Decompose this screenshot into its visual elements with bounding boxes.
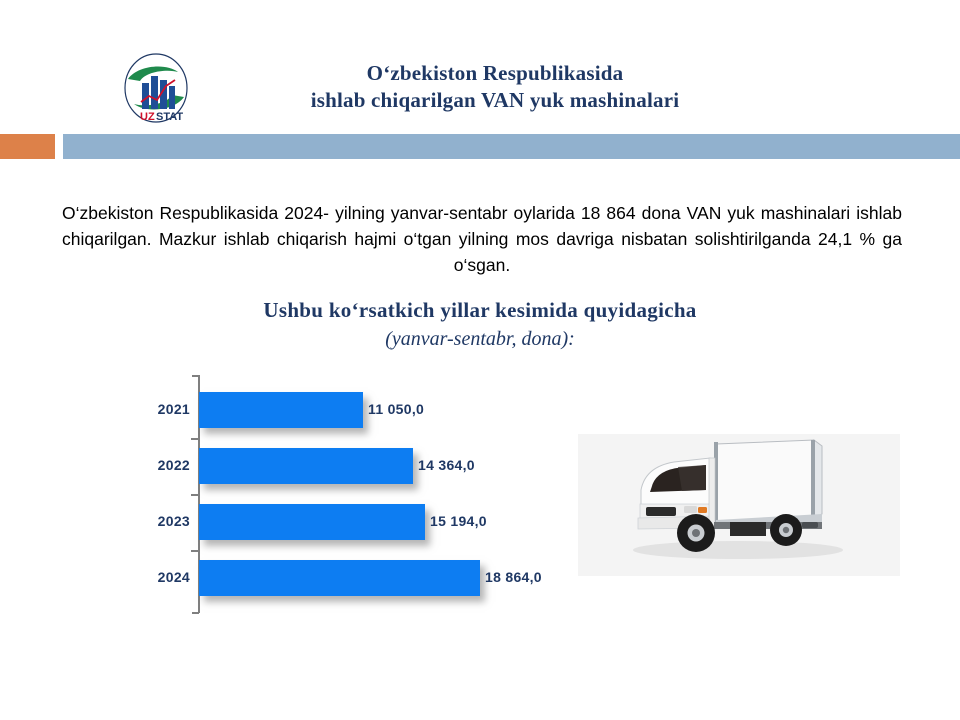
divider-band <box>63 134 960 159</box>
logo-text-stat: STAT <box>156 111 183 123</box>
title-line-2: ishlab chiqarilgan VAN yuk mashinalari <box>230 87 760 114</box>
chart-axis-tick <box>191 550 199 552</box>
van-truck-photo <box>578 434 900 576</box>
axis-cap-top <box>192 375 199 377</box>
chart-subtitle: Ushbu ko‘rsatkich yillar kesimida quyida… <box>130 298 830 323</box>
chart-value-label: 11 050,0 <box>368 401 424 417</box>
chart-axis-tick <box>191 438 199 440</box>
chart-value-label: 15 194,0 <box>430 513 487 529</box>
chart-bar-row: 202111 050,0 <box>140 392 560 428</box>
summary-paragraph: O‘zbekiston Respublikasida 2024- yilning… <box>62 200 902 278</box>
chart-subtitle-units: (yanvar-sentabr, dona): <box>130 328 830 351</box>
chart-value-label: 14 364,0 <box>418 457 475 473</box>
slide-canvas: UZ STAT O‘zbekiston Respublikasida ishla… <box>0 0 960 720</box>
chart-category-label: 2024 <box>140 569 190 585</box>
chart-category-label: 2021 <box>140 401 190 417</box>
chart-axis-tick <box>191 494 199 496</box>
chart-bar-row: 202315 194,0 <box>140 504 560 540</box>
chart-bar-row: 202214 364,0 <box>140 448 560 484</box>
axis-cap-bottom <box>192 612 199 614</box>
chart-bar[interactable] <box>199 560 480 596</box>
title-line-1: O‘zbekiston Respublikasida <box>367 61 624 85</box>
chart-category-label: 2023 <box>140 513 190 529</box>
page-title: O‘zbekiston Respublikasida ishlab chiqar… <box>230 60 760 114</box>
chart-bar[interactable] <box>199 448 413 484</box>
uzstat-logo: UZ STAT <box>118 52 194 128</box>
divider-accent-block <box>0 134 55 159</box>
chart-bar-row: 202418 864,0 <box>140 560 560 596</box>
chart-category-label: 2022 <box>140 457 190 473</box>
chart-bar[interactable] <box>199 392 363 428</box>
chart-value-label: 18 864,0 <box>485 569 542 585</box>
logo-text-uz: UZ <box>140 111 155 123</box>
chart-bar[interactable] <box>199 504 425 540</box>
bar-chart: 202111 050,0202214 364,0202315 194,02024… <box>140 368 560 618</box>
